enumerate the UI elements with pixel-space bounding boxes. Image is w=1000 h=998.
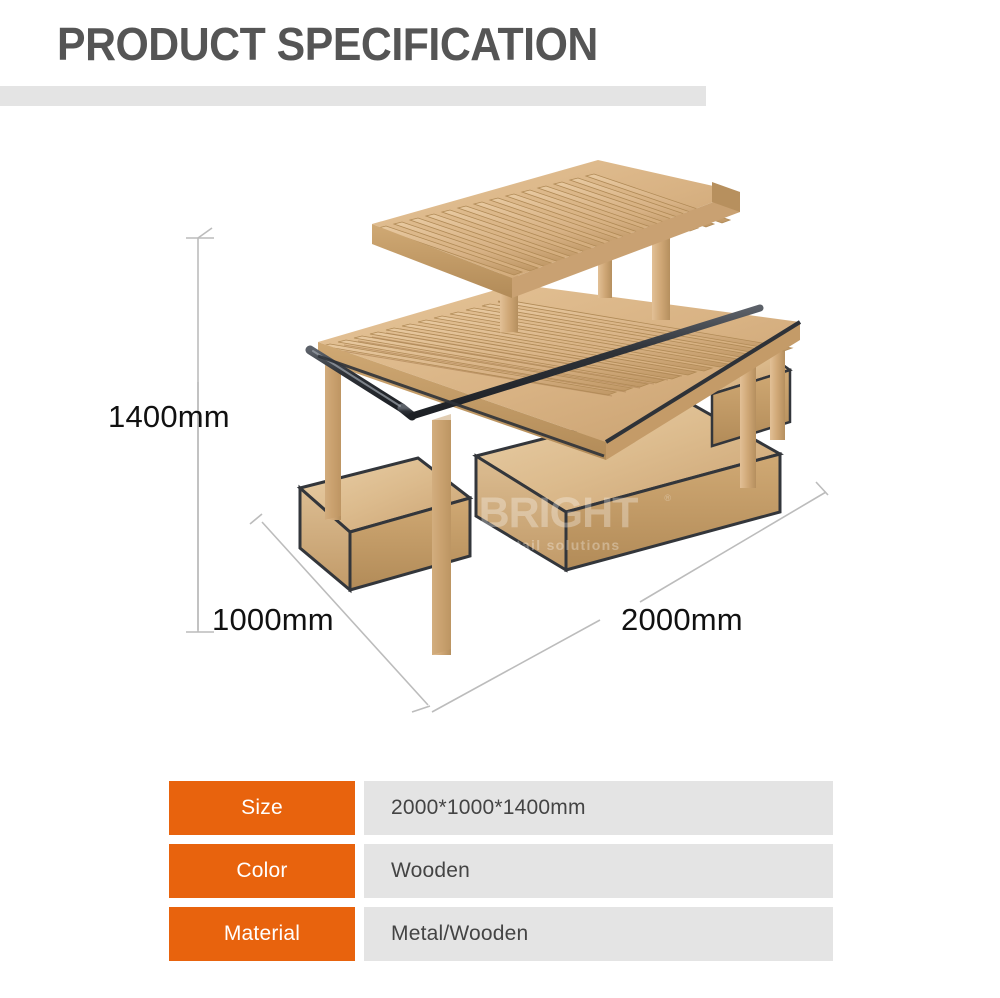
spec-value-material: Metal/Wooden: [364, 907, 833, 961]
cell-gap: [355, 907, 364, 961]
specification-table: Size 2000*1000*1400mm Color Wooden Mater…: [169, 781, 833, 961]
spec-key-size: Size: [169, 781, 355, 835]
product-specification-page: PRODUCT SPECIFICATION: [0, 0, 1000, 998]
spec-key-color: Color: [169, 844, 355, 898]
cell-gap: [355, 781, 364, 835]
title-underline-bar: [0, 86, 706, 106]
spec-value-size: 2000*1000*1400mm: [364, 781, 833, 835]
table-row: Material Metal/Wooden: [169, 907, 833, 961]
dimension-label-width: 2000mm: [621, 602, 743, 638]
page-title: PRODUCT SPECIFICATION: [57, 17, 598, 71]
spec-key-material: Material: [169, 907, 355, 961]
spec-value-color: Wooden: [364, 844, 833, 898]
upper-slatted-shelf: [372, 160, 740, 298]
cell-gap: [355, 844, 364, 898]
dimension-label-depth: 1000mm: [212, 602, 334, 638]
dimension-label-height: 1400mm: [108, 399, 230, 435]
table-row: Color Wooden: [169, 844, 833, 898]
table-row: Size 2000*1000*1400mm: [169, 781, 833, 835]
